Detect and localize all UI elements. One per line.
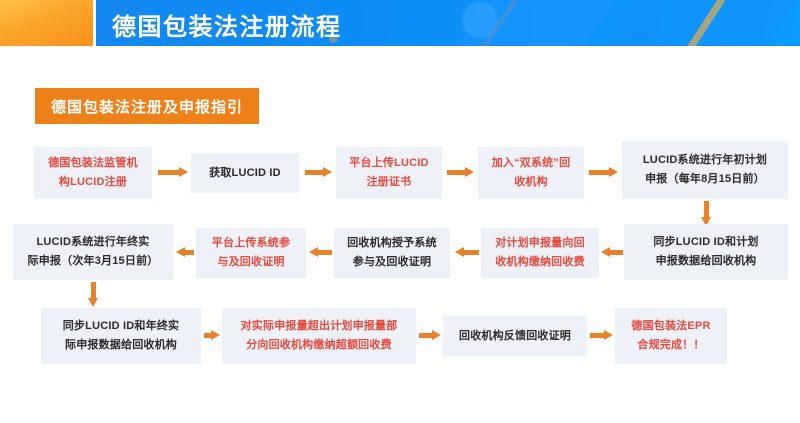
- flow-node-text: 回收机构反馈回收证明: [459, 327, 571, 346]
- arrow-left-icon: [309, 247, 332, 258]
- arrow-right-icon: [305, 167, 332, 178]
- header-orange-block: [0, 0, 93, 46]
- flow-node-join-dual-system[interactable]: 加入“双系统”回收机构: [478, 147, 584, 199]
- header-blue-banner: 德国包装法注册流程: [96, 0, 800, 46]
- header-slash-line-blue: [479, 0, 519, 46]
- flow-node-text: 同步LUCID ID和年终实际申报数据给回收机构: [63, 317, 179, 355]
- header-diagonal-band-2: [577, 0, 800, 46]
- page-header: 德国包装法注册流程: [0, 0, 800, 48]
- flow-node-text: 获取LUCID ID: [209, 164, 281, 183]
- header-circle-icon: [462, 2, 498, 38]
- arrow-left-icon: [455, 247, 479, 258]
- flow-node-text: LUCID系统进行年初计划申报（每年8月15日前）: [643, 151, 767, 189]
- arrow-down-icon: [701, 201, 712, 225]
- arrow-right-icon: [590, 330, 613, 341]
- arrow-left-icon: [176, 247, 194, 258]
- flow-node-text: 加入“双系统”回收机构: [492, 154, 571, 192]
- flow-node-upload-lucid-certificate[interactable]: 平台上传LUCID注册证书: [336, 147, 442, 199]
- flow-node-pay-excess-recycling-fee[interactable]: 对实际申报量超出计划申报量部分向回收机构缴纳超额回收费: [222, 308, 416, 364]
- flow-node-annual-plan-declaration[interactable]: LUCID系统进行年初计划申报（每年8月15日前）: [622, 141, 788, 199]
- flow-node-text: 平台上传系统参与及回收证明: [212, 234, 290, 272]
- flow-node-upload-system-participation-proof[interactable]: 平台上传系统参与及回收证明: [196, 228, 306, 278]
- header-slash-line-gold: [687, 0, 727, 46]
- flow-node-text: 德国包装法监管机构LUCID注册: [48, 154, 138, 192]
- subtitle-label: 德国包装法注册及申报指引: [51, 96, 243, 117]
- flow-node-text: LUCID系统进行年终实际申报（次年3月15日前）: [28, 233, 159, 271]
- flow-node-sync-lucid-plan-data[interactable]: 同步LUCID ID和计划申报数据给回收机构: [624, 224, 788, 280]
- page-title: 德国包装法注册流程: [112, 7, 342, 42]
- header-diagonal-band-1: [427, 0, 635, 46]
- arrow-left-icon: [601, 247, 623, 258]
- flow-node-text: 同步LUCID ID和计划申报数据给回收机构: [653, 233, 758, 271]
- flow-node-epr-compliance-complete[interactable]: 德国包装法EPR合规完成！！: [615, 308, 727, 364]
- arrow-right-icon: [204, 330, 219, 341]
- flow-node-text: 德国包装法EPR合规完成！！: [631, 317, 710, 355]
- arrow-right-icon: [589, 167, 618, 178]
- flow-node-year-end-actual-declaration[interactable]: LUCID系统进行年终实际申报（次年3月15日前）: [13, 224, 173, 280]
- flow-node-text: 对计划申报量向回收机构缴纳回收费: [495, 234, 585, 272]
- flow-node-text: 平台上传LUCID注册证书: [349, 154, 428, 192]
- flow-node-obtain-lucid-id[interactable]: 获取LUCID ID: [191, 153, 299, 193]
- subtitle-banner: 德国包装法注册及申报指引: [35, 88, 259, 124]
- arrow-right-icon: [158, 167, 188, 178]
- flow-node-sync-year-end-data[interactable]: 同步LUCID ID和年终实际申报数据给回收机构: [41, 308, 201, 364]
- flow-node-regulator-lucid-registration[interactable]: 德国包装法监管机构LUCID注册: [34, 147, 152, 199]
- flow-node-text: 回收机构授予系统参与及回收证明: [347, 234, 437, 272]
- flow-node-pay-planned-recycling-fee[interactable]: 对计划申报量向回收机构缴纳回收费: [481, 228, 599, 278]
- arrow-right-icon: [447, 167, 474, 178]
- flow-node-recycler-feedback-proof[interactable]: 回收机构反馈回收证明: [443, 316, 587, 356]
- arrow-right-icon: [419, 330, 441, 341]
- flow-node-recycler-grants-proof[interactable]: 回收机构授予系统参与及回收证明: [334, 228, 450, 278]
- flow-node-text: 对实际申报量超出计划申报量部分向回收机构缴纳超额回收费: [241, 317, 398, 355]
- arrow-down-icon: [88, 282, 99, 306]
